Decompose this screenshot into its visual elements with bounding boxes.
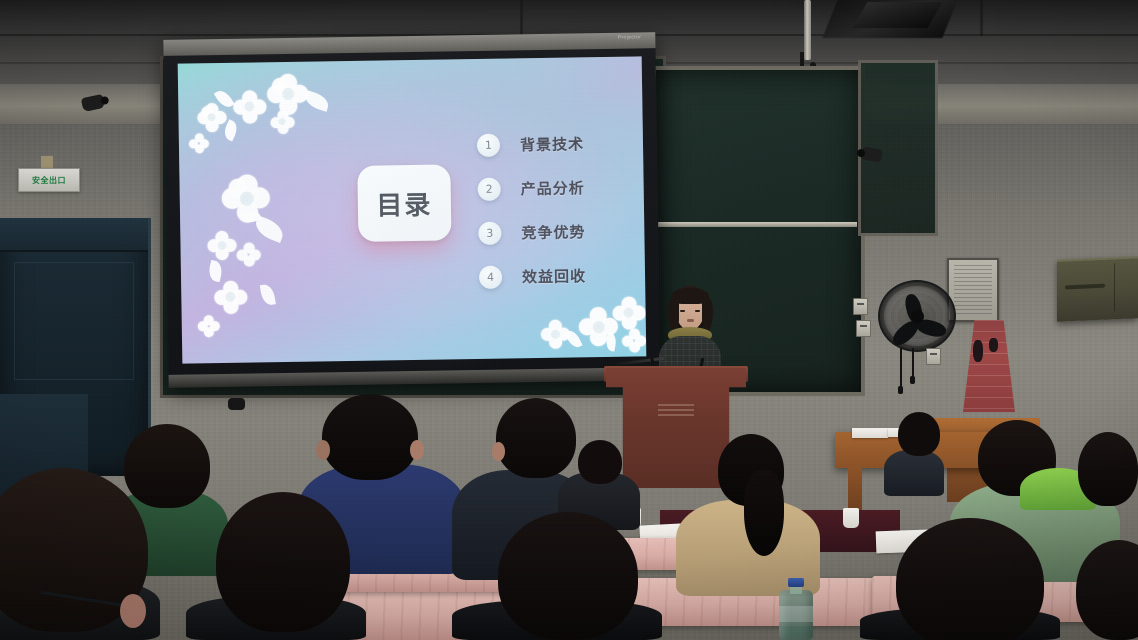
- lecture-hall-photo: Projector: [0, 0, 1138, 640]
- ear: [120, 594, 146, 628]
- door-transom: [0, 218, 148, 252]
- fan-pull-cord[interactable]: [912, 348, 914, 378]
- toc-list: 1 背景技术 2 产品分析 3 竞争优势 4 效益回收: [477, 121, 630, 299]
- flower-decor-topleft-5: [189, 133, 209, 153]
- wall-mounted-sensor-icon: [228, 398, 245, 410]
- paper-cup: [843, 508, 859, 528]
- ear: [410, 440, 424, 460]
- audience-member-head: [1076, 540, 1138, 640]
- projector-brand-mark: Projector: [618, 34, 642, 40]
- hair: [1076, 540, 1138, 640]
- toc-item: 3 竞争优势: [478, 209, 629, 255]
- hair: [898, 412, 940, 456]
- flower-decor-topleft-4: [270, 110, 294, 134]
- wall-speaker: [1057, 256, 1138, 322]
- audience-member-head: [216, 492, 350, 632]
- hair: [1078, 432, 1138, 506]
- flower-decor-midleft-3: [236, 242, 260, 266]
- podium-emblem: [658, 404, 694, 418]
- hair: [322, 394, 418, 480]
- banner-opening: [989, 338, 998, 352]
- flower-decor-midleft-2: [206, 231, 236, 261]
- power-socket[interactable]: [926, 348, 941, 365]
- presenter-hair-left: [668, 298, 679, 332]
- hair: [578, 440, 622, 484]
- ear: [492, 442, 505, 461]
- toc-title-card: 目录: [357, 164, 451, 241]
- power-socket[interactable]: [856, 320, 871, 337]
- flower-decor-bottomright-3: [611, 296, 646, 331]
- exit-sign-text: 安全出口: [32, 175, 66, 186]
- speaker-grill: [1065, 284, 1105, 290]
- toc-item: 1 背景技术: [477, 121, 628, 167]
- flower-decor-midleft-5: [198, 315, 220, 337]
- toc-item-number: 3: [478, 221, 501, 244]
- audience-member-head: [496, 398, 576, 478]
- toc-item-label: 竞争优势: [521, 221, 585, 243]
- fan-pull-cord[interactable]: [900, 348, 902, 388]
- notice-text-lines: [954, 265, 992, 315]
- hair: [496, 398, 576, 478]
- projection-screen: Projector: [163, 32, 660, 388]
- toc-title-text: 目录: [376, 184, 433, 222]
- presenter-eye: [695, 310, 700, 312]
- toc-item-label: 产品分析: [521, 177, 585, 199]
- fan-cord-bead: [898, 386, 903, 394]
- power-socket[interactable]: [853, 298, 868, 315]
- ceiling-pipe: [804, 0, 811, 60]
- presenter-eye: [680, 310, 685, 312]
- audience-member-head: [1078, 432, 1138, 506]
- audience-member-head: [322, 394, 418, 480]
- door-panel: [14, 262, 134, 380]
- hair: [896, 518, 1044, 640]
- audience-member-head: [578, 440, 622, 484]
- toc-item: 2 产品分析: [477, 165, 628, 211]
- banner-opening: [973, 340, 983, 362]
- exit-sign-bracket: [41, 156, 53, 168]
- audience-member-head: [896, 518, 1044, 640]
- audience-member-torso: [884, 450, 944, 496]
- table-leg: [848, 466, 862, 512]
- flower-decor-midleft-4: [213, 281, 248, 316]
- wall-fan: [878, 280, 956, 352]
- audience-member-head: [498, 512, 638, 640]
- ear: [316, 440, 330, 460]
- toc-item-number: 1: [477, 133, 500, 156]
- speaker-seam: [1114, 263, 1115, 311]
- flower-decor-bottomright-4: [622, 328, 646, 352]
- toc-item-label: 背景技术: [520, 133, 584, 155]
- toc-item-number: 4: [479, 265, 502, 288]
- ponytail: [744, 470, 784, 556]
- flower-decor-topleft-1: [196, 103, 226, 133]
- hair: [498, 512, 638, 640]
- presenter-mouth: [687, 319, 694, 322]
- paper-sheet: [852, 428, 888, 438]
- fan-hub: [911, 310, 924, 323]
- chalkboard-rail: [652, 222, 857, 227]
- presentation-slide: 目录 1 背景技术 2 产品分析 3 竞争优势 4 效益回收: [178, 56, 647, 363]
- flower-decor-topleft-2: [232, 90, 267, 125]
- toc-item-label: 效益回收: [522, 265, 586, 287]
- ceiling-vent-inner: [852, 2, 942, 28]
- bottle-cap[interactable]: [788, 578, 804, 587]
- emergency-exit-sign: 安全出口: [18, 168, 80, 192]
- hair: [216, 492, 350, 632]
- fan-cord-bead: [910, 376, 915, 384]
- presenter-hair-right: [702, 298, 713, 332]
- audience-member-head: [898, 412, 940, 456]
- bottle-label: [779, 606, 813, 622]
- toc-item-number: 2: [477, 177, 500, 200]
- water-bottle[interactable]: [779, 578, 813, 640]
- toc-item: 4 效益回收: [479, 253, 630, 299]
- hair: [744, 470, 784, 556]
